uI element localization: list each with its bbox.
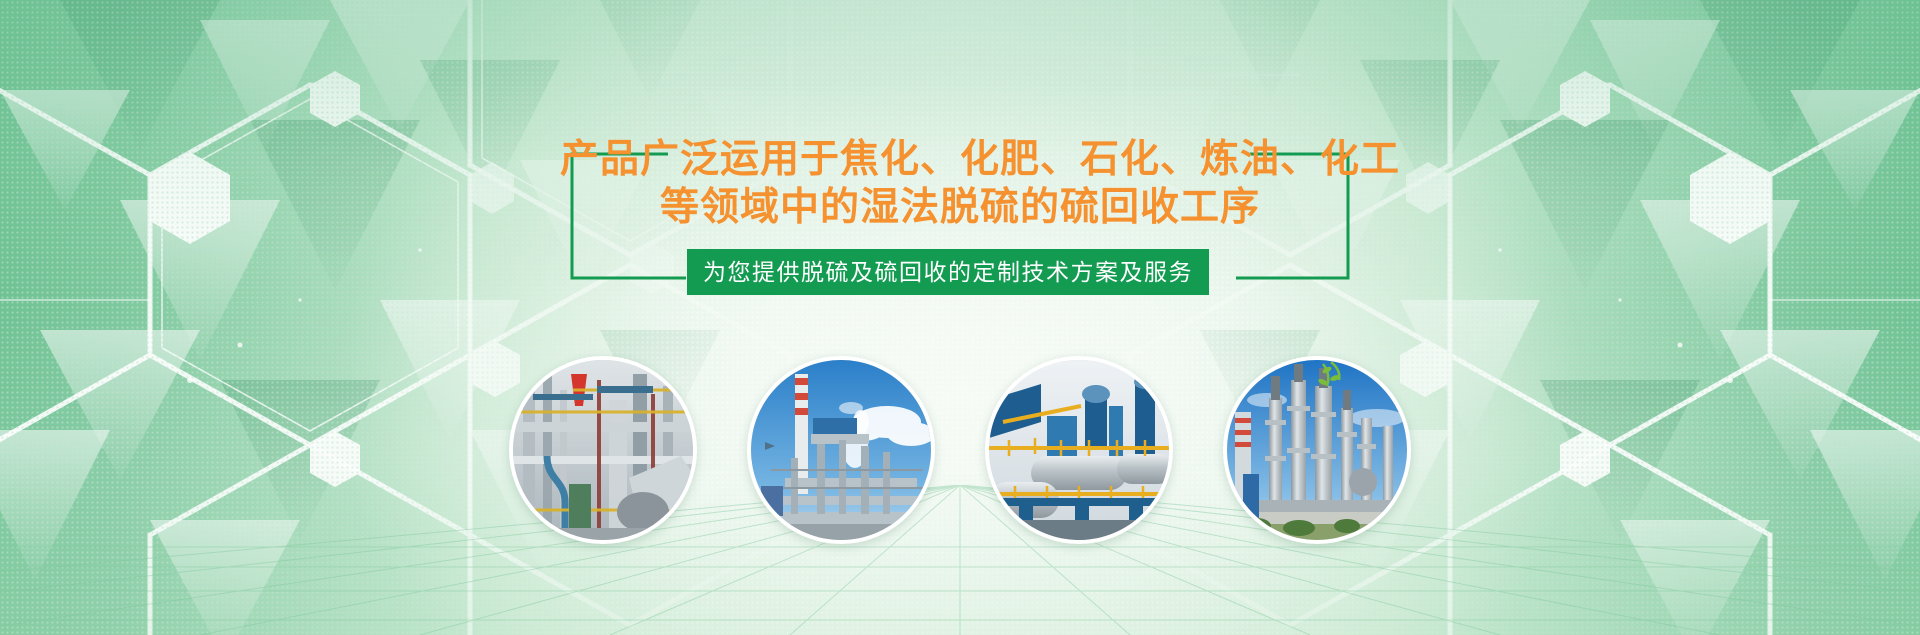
photo-refinery-columns[interactable] (1223, 356, 1411, 544)
photo-gallery (0, 356, 1920, 544)
promo-banner: 产品广泛运用于焦化、化肥、石化、炼油、化工 等领域中的湿法脱硫的硫回收工序 为您… (0, 0, 1920, 635)
headline: 产品广泛运用于焦化、化肥、石化、炼油、化工 等领域中的湿法脱硫的硫回收工序 (560, 136, 1360, 231)
photo-piping-plant[interactable] (509, 356, 697, 544)
headline-line-1: 产品广泛运用于焦化、化肥、石化、炼油、化工 (560, 136, 1360, 184)
photo-refinery-columns-art (1227, 360, 1407, 540)
photo-piping-plant-art (513, 360, 693, 540)
photo-chimney-stack-art (751, 360, 931, 540)
photo-storage-tanks[interactable] (985, 356, 1173, 544)
photo-storage-tanks-art (989, 360, 1169, 540)
headline-line-2: 等领域中的湿法脱硫的硫回收工序 (560, 184, 1360, 232)
subtitle-bar: 为您提供脱硫及硫回收的定制技术方案及服务 (687, 249, 1209, 295)
photo-chimney-stack[interactable] (747, 356, 935, 544)
